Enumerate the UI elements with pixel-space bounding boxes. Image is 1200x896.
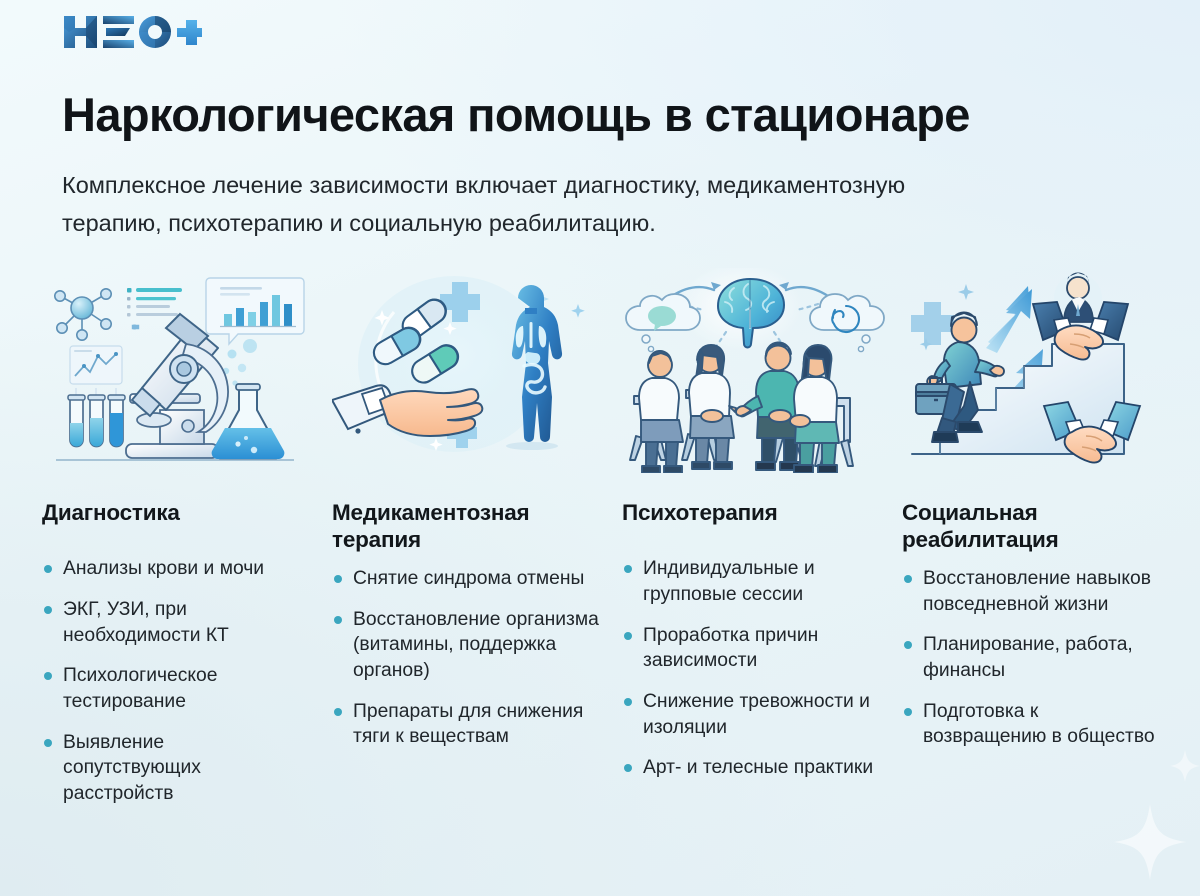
list-item: Восстановление организма (витамины, подд… — [332, 607, 621, 684]
list-item: Препараты для снижения тяги к веществам — [332, 699, 621, 750]
brand-logo — [62, 10, 202, 54]
column-items-list: Индивидуальные и групповые сессии Прораб… — [622, 556, 912, 781]
microscope-icon — [126, 314, 228, 458]
list-item: Выявление сопутствующих расстройств — [42, 730, 295, 807]
list-item: ЭКГ, УЗИ, при необходимости КТ — [42, 597, 295, 648]
report-lines-icon — [127, 288, 182, 317]
illustration-microscope-lab — [42, 268, 308, 473]
column-title: Медикаментозная терапия — [332, 499, 600, 554]
illustration-hand-with-pills — [332, 268, 598, 473]
hand-with-pills-icon — [332, 268, 598, 473]
column-title: Социальная реабилитация — [902, 499, 1132, 554]
list-item: Снижение тревожности и изоляции — [622, 689, 901, 740]
list-item: Подготовка к возвращению в общество — [902, 699, 1155, 750]
column-psychotherapy: Психотерапия Индивидуальные и групповые … — [622, 268, 912, 796]
column-items-list: Восстановление навыков повседневной жизн… — [902, 566, 1192, 750]
column-items-list: Анализы крови и мочи ЭКГ, УЗИ, при необх… — [42, 556, 332, 806]
page-subtitle: Комплексное лечение зависимости включает… — [62, 166, 942, 242]
column-social-rehabilitation: Социальная реабилитация Восстановление н… — [902, 268, 1192, 765]
line-chart-icon — [70, 346, 122, 384]
list-item: Снятие синдрома отмены — [332, 566, 621, 592]
column-items-list: Снятие синдрома отмены Восстановление ор… — [332, 566, 622, 750]
hand-icon — [332, 385, 482, 436]
list-item: Индивидуальные и групповые сессии — [622, 556, 901, 607]
people-sitting-icon — [630, 342, 853, 473]
molecule-icon — [55, 289, 111, 340]
thought-cloud-icon — [810, 294, 884, 352]
column-diagnostics: Диагностика Анализы крови и мочи ЭКГ, УЗ… — [42, 268, 332, 822]
group-therapy-icon — [622, 268, 888, 473]
column-title: Диагностика — [42, 499, 292, 526]
column-medication-therapy: Медикаментозная терапия Снятие синдрома … — [332, 268, 622, 765]
plus-icon — [133, 325, 138, 330]
thought-cloud-icon — [626, 294, 700, 352]
test-tubes-icon — [68, 395, 125, 447]
page-title: Наркологическая помощь в стационаре — [62, 90, 1152, 140]
illustration-career-stairs-handshake — [902, 268, 1168, 473]
list-item: Психологическое тестирование — [42, 663, 295, 714]
bar-chart-icon — [206, 278, 304, 344]
neo-plus-logo-icon — [62, 10, 202, 54]
list-item: Анализы крови и мочи — [42, 556, 295, 582]
illustration-group-therapy — [622, 268, 888, 473]
list-item: Восстановление навыков повседневной жизн… — [902, 566, 1155, 617]
list-item: Проработка причин зависимости — [622, 623, 901, 674]
career-stairs-handshake-icon — [902, 268, 1168, 473]
column-title: Психотерапия — [622, 499, 912, 526]
speech-bubble-icon — [648, 306, 676, 326]
bubbles-icon — [223, 339, 257, 386]
microscope-lab-icon — [42, 268, 308, 473]
columns-container: Диагностика Анализы крови и мочи ЭКГ, УЗ… — [0, 268, 1200, 896]
infographic-page: Наркологическая помощь в стационаре Комп… — [0, 0, 1200, 896]
medical-cross-icon — [911, 302, 954, 345]
list-item: Арт- и телесные практики — [622, 755, 901, 781]
list-item: Планирование, работа, финансы — [902, 632, 1155, 683]
